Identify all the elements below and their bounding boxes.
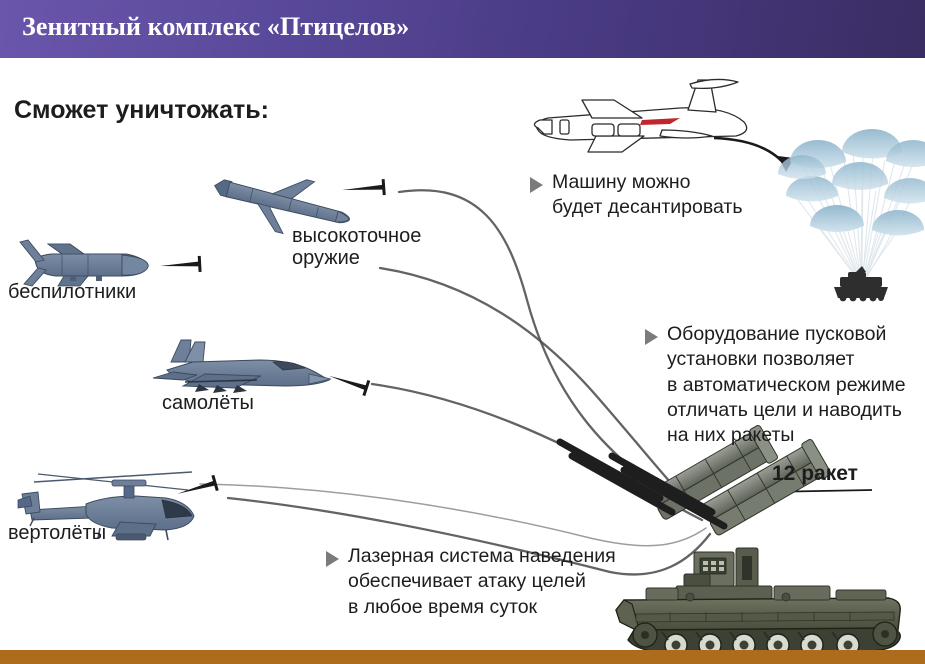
bullet-laser-guidance-text: Лазерная система наведения обеспечивает … (348, 544, 616, 620)
parachute-cluster-icon (778, 129, 925, 301)
triangle-right-icon (645, 329, 658, 345)
infographic-page: Зенитный комплекс «Птицелов» Сможет унич… (0, 0, 925, 664)
drone-icon (20, 240, 148, 286)
section-heading: Сможет уничтожать: (14, 96, 269, 125)
triangle-right-icon (326, 551, 339, 567)
rockets-count-callout: 12 ракет (772, 462, 858, 486)
bullet-automatic-mode: Оборудование пусковой установки позволяе… (645, 322, 906, 449)
triangle-right-icon (530, 177, 543, 193)
trajectory-lines (200, 190, 710, 574)
curved-arrow-icon (714, 138, 794, 172)
target-label-precision-weapon: высокоточное оружие (292, 225, 421, 270)
interceptor-dart-icon-3 (326, 368, 370, 396)
bullet-airdrop: Машину можно будет десантировать (530, 170, 743, 221)
bullet-laser-guidance: Лазерная система наведения обеспечивает … (326, 544, 616, 620)
target-label-uav: беспилотники (8, 281, 136, 303)
ground-strip (0, 650, 925, 664)
il76-transport-plane-icon (534, 79, 746, 152)
page-title: Зенитный комплекс «Птицелов» (22, 12, 409, 42)
bullet-automatic-mode-text: Оборудование пусковой установки позволяе… (667, 322, 906, 449)
target-label-helicopters: вертолёты (8, 522, 106, 544)
interceptor-dart-icon-1 (342, 179, 386, 198)
target-label-aircraft: самолёты (162, 392, 254, 414)
tracked-sam-launcher-icon (560, 424, 900, 656)
rockets-callout-leader (744, 490, 872, 520)
interceptor-dart-icon-2 (160, 256, 202, 274)
interceptor-dart-icon-4 (175, 475, 219, 502)
bullet-airdrop-text: Машину можно будет десантировать (552, 170, 743, 221)
fighter-jet-icon (153, 340, 331, 393)
